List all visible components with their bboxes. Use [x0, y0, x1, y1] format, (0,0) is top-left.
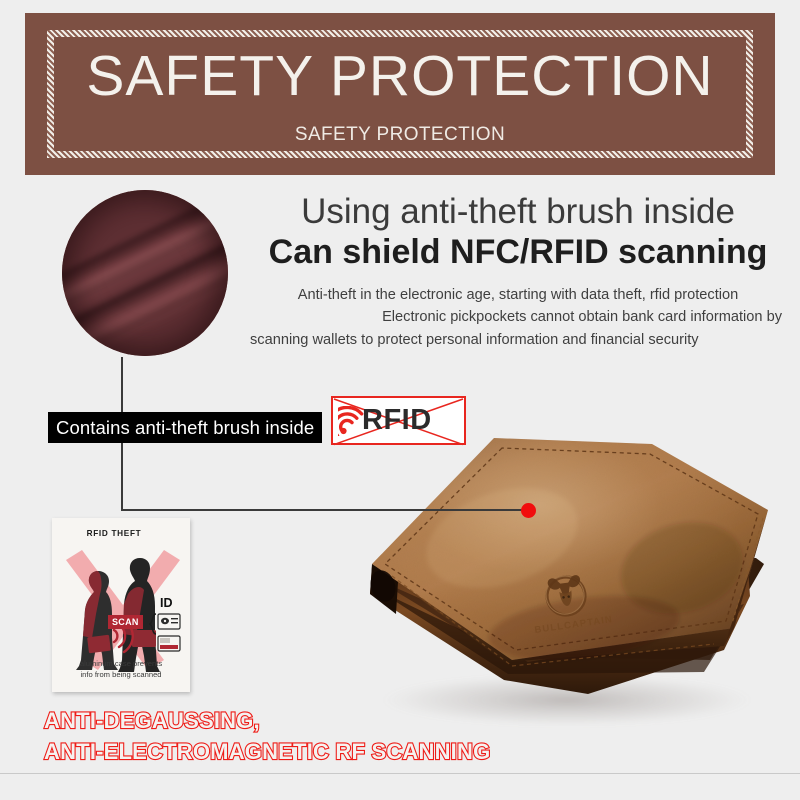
rfid-theft-illustration-card: RFID THEFT SCAN ID aluminum case prevent… [52, 518, 190, 692]
rfid-badge-text: RFID [362, 406, 432, 435]
header-banner: SAFETY PROTECTION SAFETY PROTECTION [25, 13, 775, 175]
paragraph-line-3: scanning wallets to protect personal inf… [250, 329, 786, 351]
headline-line-1: Using anti-theft brush inside [250, 192, 786, 231]
headline-block: Using anti-theft brush inside Can shield… [250, 192, 786, 351]
headline-paragraph: Anti-theft in the electronic age, starti… [250, 284, 786, 351]
banner-text-group: SAFETY PROTECTION SAFETY PROTECTION [25, 13, 775, 175]
theft-caption-line-1: aluminum case prevents [52, 658, 190, 669]
headline-line-2: Can shield NFC/RFID scanning [250, 233, 786, 272]
fabric-swatch-circle [62, 190, 228, 356]
wallet-product-photo: BULLCAPTAIN [352, 418, 782, 730]
wallet-illustration: BULLCAPTAIN [352, 418, 782, 730]
anti-theft-brush-label: Contains anti-theft brush inside [48, 412, 322, 443]
bottom-separator [0, 773, 800, 774]
product-infographic-page: SAFETY PROTECTION SAFETY PROTECTION Usin… [0, 0, 800, 800]
rfid-blocked-badge: RFID [331, 396, 466, 445]
claim-line-1: ANTI-DEGAUSSING, [44, 705, 490, 736]
rfid-signal-waves-icon [338, 406, 365, 436]
rfid-badge-content: RFID [333, 398, 464, 443]
banner-subtitle: SAFETY PROTECTION [295, 124, 505, 146]
callout-marker-dot [521, 503, 536, 518]
id-card-icon-1 [158, 614, 180, 629]
paragraph-line-1: Anti-theft in the electronic age, starti… [250, 284, 786, 306]
theft-card-caption: aluminum case prevents info from being s… [52, 658, 190, 680]
callout-connector-horizontal [121, 509, 529, 511]
theft-card-title: RFID THEFT [52, 529, 190, 538]
theft-caption-line-2: info from being scanned [52, 669, 190, 680]
claim-line-2: ANTI-ELECTROMAGNETIC RF SCANNING [44, 736, 490, 767]
scan-chip-label: SCAN [108, 615, 143, 629]
fabric-vignette [62, 190, 228, 356]
id-card-icon-2 [158, 636, 180, 651]
briefcase-right [132, 630, 156, 647]
anti-scanning-claim: ANTI-DEGAUSSING, ANTI-ELECTROMAGNETIC RF… [44, 705, 490, 767]
id-label: ID [160, 596, 173, 610]
briefcase-left [87, 635, 111, 654]
banner-title: SAFETY PROTECTION [86, 48, 713, 105]
paragraph-line-2: Electronic pickpockets cannot obtain ban… [250, 306, 786, 328]
